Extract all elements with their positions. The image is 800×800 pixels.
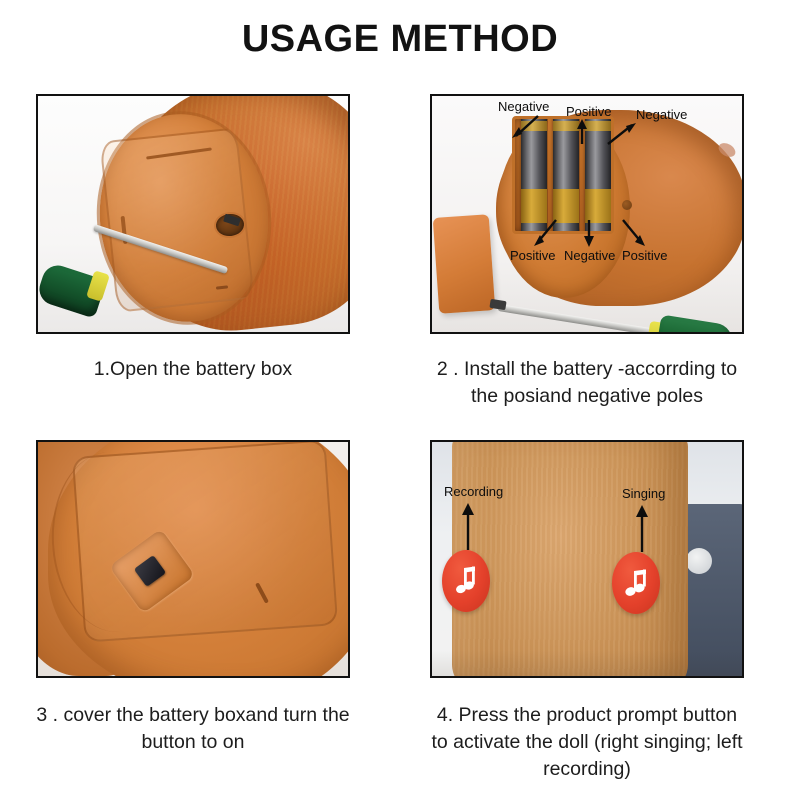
step-3-caption: 3 . cover the battery boxand turn the bu… — [36, 702, 350, 756]
step-3: 3 . cover the battery boxand turn the bu… — [36, 440, 350, 678]
photo-foreground-shadow — [432, 650, 742, 676]
photo-cover-and-switch — [36, 440, 350, 678]
step-1-caption: 1.Open the battery box — [36, 356, 350, 383]
step-2: Negative Positive Negative Positive — [430, 94, 744, 334]
annotation-arrow-down-left — [532, 218, 560, 248]
music-note-icon — [622, 568, 650, 598]
music-note-button-left[interactable] — [442, 550, 490, 612]
plush-doll-torso — [452, 440, 688, 678]
step-4: Recording Singing 4. Press the product p… — [430, 440, 744, 678]
page-title: USAGE METHOD — [0, 18, 800, 61]
step-1: 1.Open the battery box — [36, 94, 350, 334]
annotation-label-recording: Recording — [444, 484, 503, 499]
step-4-caption: 4. Press the product prompt button to ac… — [430, 702, 744, 783]
usage-method-page: USAGE METHOD 1.Open the battery box — [0, 0, 800, 800]
annotation-label-negative-bottom-center: Negative — [564, 248, 615, 263]
music-note-icon — [453, 566, 479, 596]
annotation-label-singing: Singing — [622, 486, 665, 501]
annotation-arrow-up — [634, 504, 650, 552]
screw-hole — [622, 200, 632, 210]
removed-battery-cover — [433, 214, 496, 314]
annotation-arrow-down-left — [510, 114, 540, 140]
annotation-arrow-down — [582, 220, 596, 248]
annotation-arrow-down-right — [606, 122, 638, 148]
step-2-caption: 2 . Install the battery -accorrding to t… — [430, 356, 744, 410]
photo-open-battery-box — [36, 94, 350, 334]
music-note-button-right[interactable] — [612, 552, 660, 614]
annotation-label-positive-top-center: Positive — [566, 104, 612, 119]
annotation-arrow-up — [460, 502, 476, 550]
photo-install-batteries: Negative Positive Negative Positive — [430, 94, 744, 334]
photo-prompt-buttons: Recording Singing — [430, 440, 744, 678]
battery-cover-plate — [72, 440, 338, 643]
annotation-label-positive-bottom-right: Positive — [622, 248, 668, 263]
annotation-label-positive-bottom-left: Positive — [510, 248, 556, 263]
annotation-arrow-up — [574, 118, 590, 144]
annotation-label-negative-top-right: Negative — [636, 107, 687, 122]
annotation-label-negative-top-left: Negative — [498, 99, 549, 114]
annotation-arrow-down-right — [620, 218, 648, 248]
